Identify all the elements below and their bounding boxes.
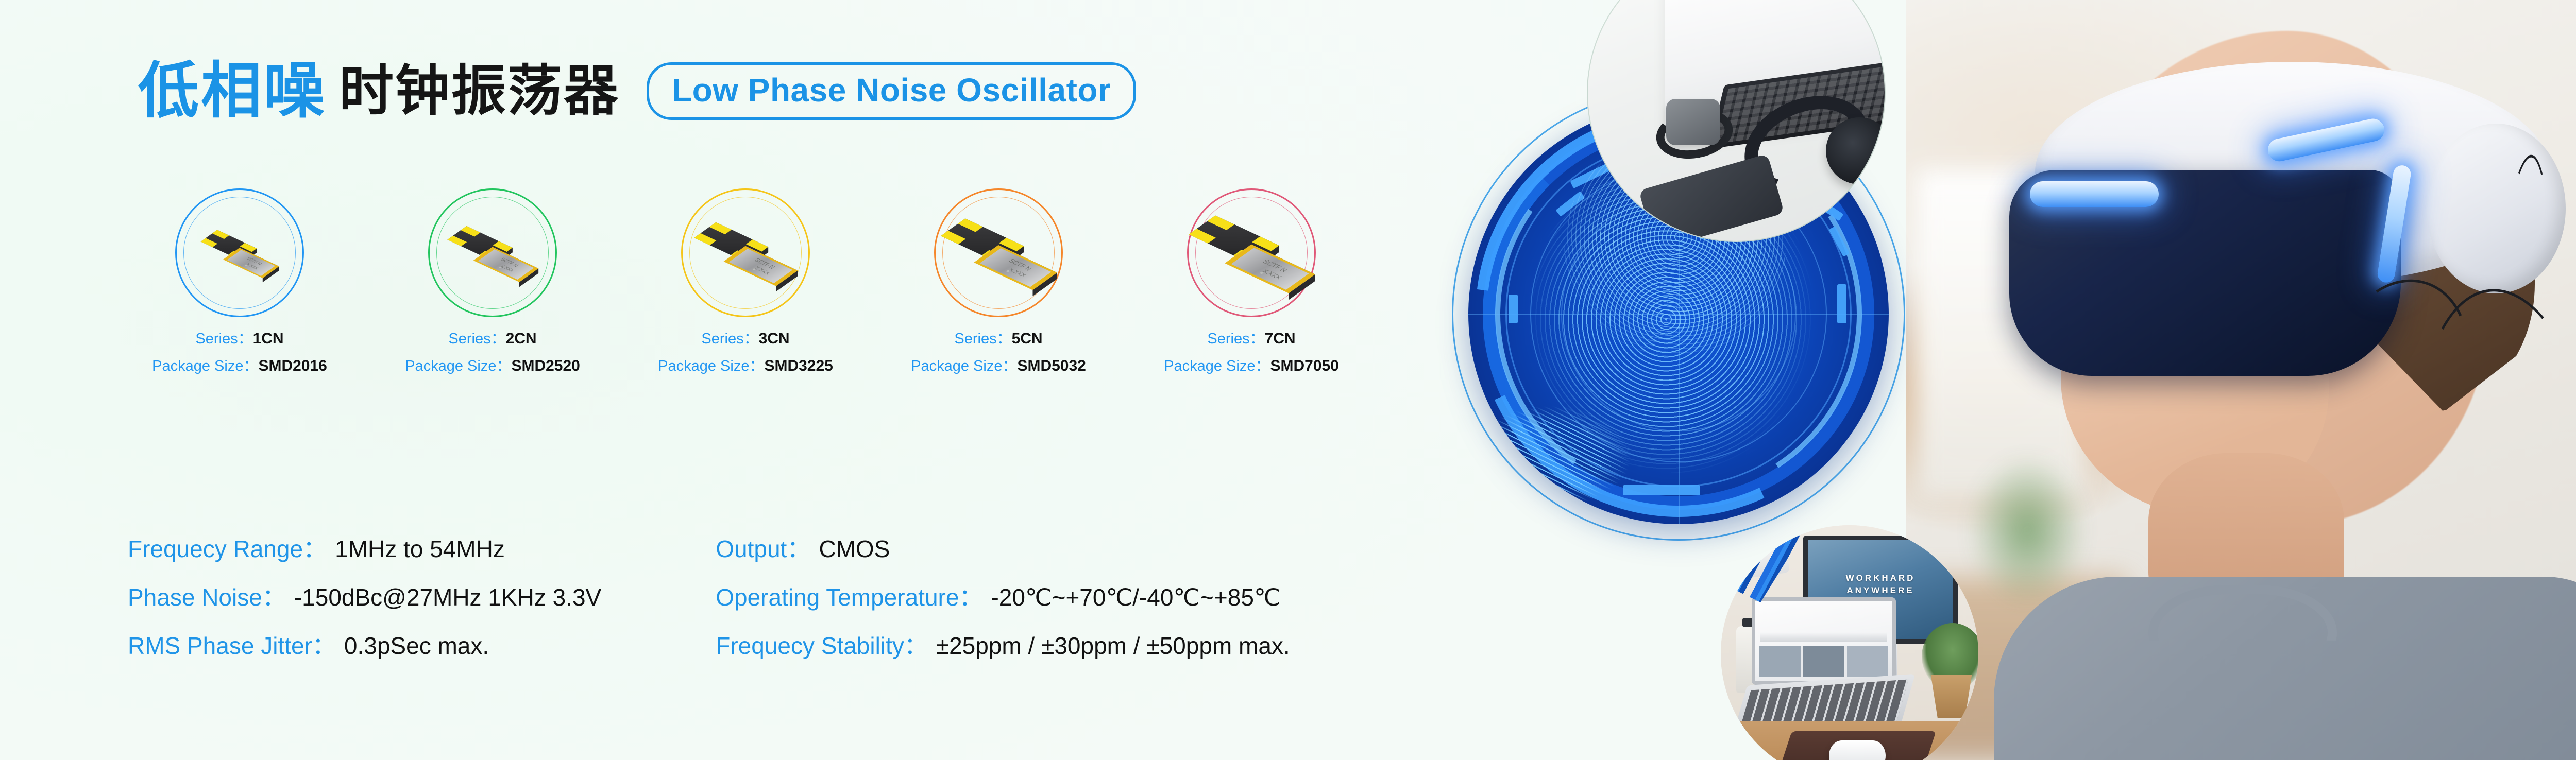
page-title: 低相噪 时钟振荡器 Low Phase Noise Oscillator [138,61,1136,122]
series-label: Series： [1207,331,1264,347]
title-rest: 时钟振荡器 [339,64,620,118]
package-label: Package Size： [405,358,511,374]
series-row: Series：2CN [405,327,580,350]
oscillator-chip-pair: SCTF NX.XXX [934,188,1063,317]
package-value: SMD2520 [511,357,580,374]
package-row: Package Size：SMD2520 [405,355,580,377]
product-card-5cn[interactable]: SCTF NX.XXXSeries：5CNPackage Size：SMD503… [878,188,1118,377]
series-row: Series：1CN [152,327,327,350]
spec-label: Operating Temperature： [716,579,982,613]
spec-value: CMOS [819,535,890,563]
spec-line-right-2: Frequecy Stability：±25ppm / ±30ppm / ±50… [716,627,1290,661]
package-row: Package Size：SMD7050 [1164,355,1339,377]
spec-value: ±25ppm / ±30ppm / ±50ppm max. [936,632,1290,660]
series-row: Series：3CN [658,327,833,350]
hud-tick [1509,295,1518,323]
spec-label: Output： [716,530,810,564]
spec-value: 1MHz to 54MHz [335,535,505,563]
hand-line-art [1479,398,1649,524]
phone-case [1638,153,1784,242]
package-row: Package Size：SMD5032 [911,355,1086,377]
product-ring-5cn: SCTF NX.XXX [934,188,1063,317]
oscillator-chip-pair: SCTF NX.XXX [175,188,304,317]
workspace-inset: WORKHARD ANYWHERE [1721,525,1978,760]
series-value: 2CN [506,330,537,347]
product-labels: Series：3CNPackage Size：SMD3225 [658,327,833,377]
macbook-analytics-chart [1760,618,1887,642]
oscillator-chip-pair: SCTF NX.XXX [1187,188,1316,317]
vr-headset-photo [1906,0,2576,760]
macbook-screen [1752,597,1896,685]
package-row: Package Size：SMD2016 [152,355,327,377]
spec-value: -20℃~+70℃/-40℃~+85℃ [991,583,1280,611]
product-category-badge: Low Phase Noise Oscillator [647,62,1136,120]
package-label: Package Size： [911,358,1017,374]
product-card-7cn[interactable]: SCTF NX.XXXSeries：7CNPackage Size：SMD705… [1131,188,1371,377]
headset-led-front [2030,181,2159,207]
spec-value: 0.3pSec max. [344,632,489,660]
series-label: Series： [701,331,758,347]
right-imagery-group: WORKHARD ANYWHERE [1391,0,2576,760]
spec-line-right-0: Output：CMOS [716,530,1290,564]
series-value: 3CN [759,330,790,347]
spec-label: RMS Phase Jitter： [128,627,336,661]
spec-label: Frequecy Stability： [716,627,928,661]
product-labels: Series：2CNPackage Size：SMD2520 [405,327,580,377]
series-label: Series： [448,331,505,347]
product-ring-2cn: SCTF NX.XXX [428,188,557,317]
macbook-photo-grid [1759,646,1888,677]
product-labels: Series：7CNPackage Size：SMD7050 [1164,327,1339,377]
computer-mouse [1829,740,1886,760]
package-value: SMD2016 [258,357,327,374]
spec-line-left-2: RMS Phase Jitter：0.3pSec max. [128,627,601,661]
package-label: Package Size： [658,358,764,374]
spec-column-right: Output：CMOSOperating Temperature：-20℃~+7… [716,530,1290,661]
spec-label: Frequecy Range： [128,530,327,564]
imac-screen-text: WORKHARD ANYWHERE [1808,572,1953,597]
series-value: 5CN [1012,330,1043,347]
product-ring-3cn: SCTF NX.XXX [681,188,810,317]
spec-line-right-1: Operating Temperature：-20℃~+70℃/-40℃~+85… [716,579,1290,613]
package-value: SMD7050 [1270,357,1338,374]
hud-tick [1837,284,1846,323]
specifications-block: Frequecy Range：1MHz to 54MHzPhase Noise：… [128,530,1290,661]
product-labels: Series：5CNPackage Size：SMD5032 [911,327,1086,377]
product-card-1cn[interactable]: SCTF NX.XXXSeries：1CNPackage Size：SMD201… [120,188,360,377]
product-card-3cn[interactable]: SCTF NX.XXXSeries：3CNPackage Size：SMD322… [625,188,866,377]
product-ring-7cn: SCTF NX.XXX [1187,188,1316,317]
series-label: Series： [954,331,1011,347]
product-labels: Series：1CNPackage Size：SMD2016 [152,327,327,377]
series-row: Series：7CN [1164,327,1339,350]
product-card-2cn[interactable]: SCTF NX.XXXSeries：2CNPackage Size：SMD252… [372,188,613,377]
oscillator-chip-pair: SCTF NX.XXX [681,188,810,317]
banner-root: WORKHARD ANYWHERE 低相噪 时钟振荡器 Low Phase No… [0,0,2576,760]
oscillator-chip-pair: SCTF NX.XXX [428,188,557,317]
spec-line-left-1: Phase Noise：-150dBc@27MHz 1KHz 3.3V [128,579,601,613]
smartwatch-body [1666,99,1720,145]
spec-label: Phase Noise： [128,579,286,613]
product-ring-1cn: SCTF NX.XXX [175,188,304,317]
package-value: SMD3225 [764,357,833,374]
screen-text-line1: WORKHARD [1808,572,1953,584]
series-value: 1CN [253,330,284,347]
screen-text-line2: ANYWHERE [1808,584,1953,597]
product-series-list: SCTF NX.XXXSeries：1CNPackage Size：SMD201… [120,188,1371,487]
title-highlight: 低相噪 [138,61,327,122]
package-label: Package Size： [1164,358,1270,374]
package-value: SMD5032 [1017,357,1086,374]
series-row: Series：5CN [911,327,1086,350]
plant-blur [1968,453,2087,608]
spec-line-left-0: Frequecy Range：1MHz to 54MHz [128,530,601,564]
series-value: 7CN [1265,330,1296,347]
package-label: Package Size： [152,358,258,374]
spec-value: -150dBc@27MHz 1KHz 3.3V [294,583,601,611]
badge-label: Low Phase Noise Oscillator [672,74,1111,107]
series-label: Series： [195,331,252,347]
spec-column-left: Frequecy Range：1MHz to 54MHzPhase Noise：… [128,530,601,661]
package-row: Package Size：SMD3225 [658,355,833,377]
